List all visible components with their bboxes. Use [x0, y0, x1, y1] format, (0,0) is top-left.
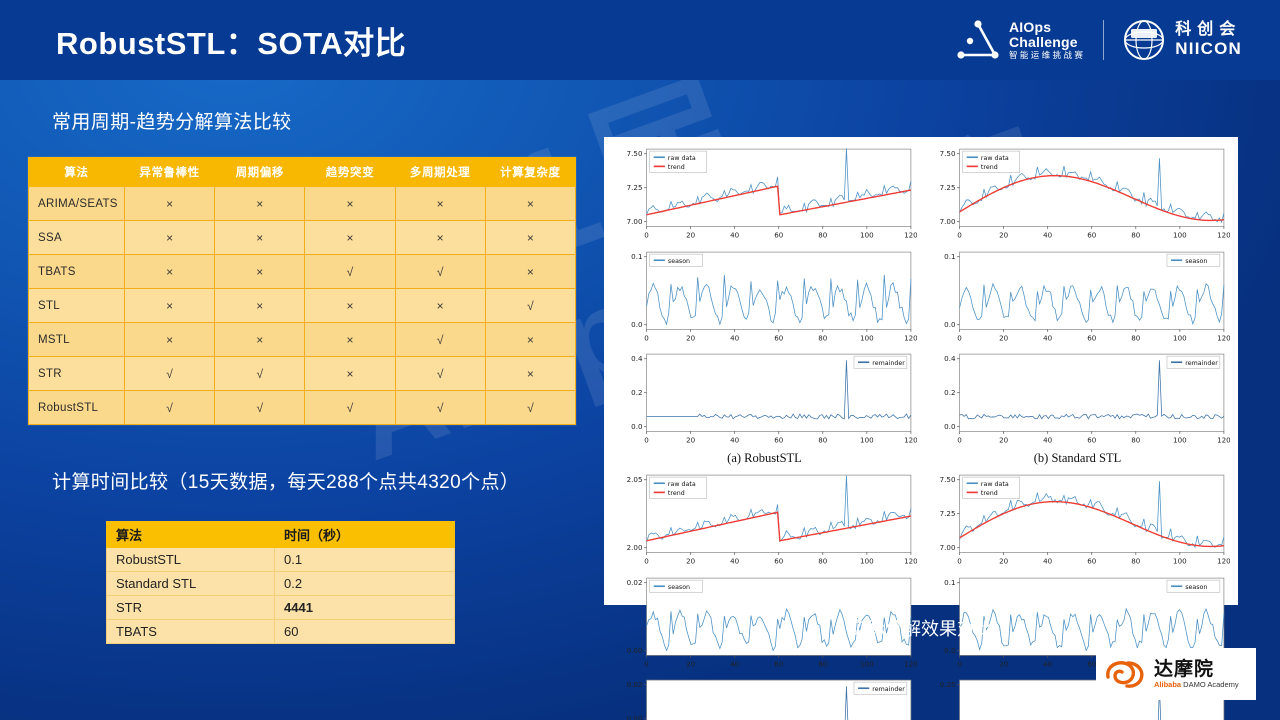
table-row: SSA××××× [29, 221, 576, 255]
compare-section-heading: 常用周期-趋势分解算法比较 [52, 107, 292, 134]
svg-text:7.00: 7.00 [940, 217, 956, 226]
svg-text:20: 20 [686, 231, 696, 240]
feature-cell-2: × [305, 357, 395, 391]
svg-text:120: 120 [1217, 436, 1230, 445]
svg-text:0.4: 0.4 [944, 354, 956, 363]
svg-text:0: 0 [957, 557, 962, 566]
niicon-logo-cn: 科创会 [1175, 22, 1242, 39]
aiops-logo-line3: 智能运维挑战赛 [1009, 51, 1085, 60]
svg-text:80: 80 [818, 231, 828, 240]
svg-text:40: 40 [1043, 436, 1053, 445]
feature-col-header-1: 异常鲁棒性 [125, 158, 215, 187]
cross-icon: × [166, 333, 173, 347]
svg-text:80: 80 [818, 557, 828, 566]
svg-text:7.50: 7.50 [627, 149, 643, 158]
aiops-logo-line1: AIOps [1009, 20, 1085, 34]
svg-text:trend: trend [668, 490, 685, 497]
cross-icon: × [166, 231, 173, 245]
feature-cell-4: √ [485, 289, 575, 323]
feature-cell-2: × [305, 323, 395, 357]
table-row: RobustSTL√√√√√ [29, 391, 576, 425]
feature-row-algo: MSTL [29, 323, 125, 357]
cross-icon: × [437, 197, 444, 211]
feature-comparison-table: 算法异常鲁棒性周期偏移趋势突变多周期处理计算复杂度 ARIMA/SEATS×××… [28, 157, 576, 425]
svg-text:0: 0 [957, 659, 962, 668]
timing-row-algo: RobustSTL [107, 548, 275, 572]
table-row: STL××××√ [29, 289, 576, 323]
svg-text:120: 120 [904, 333, 917, 342]
figure-subplot-stack-a: 0204060801001207.507.257.00raw datatrend… [608, 143, 921, 450]
figure-caption-a: (a) RobustSTL [608, 450, 921, 469]
feature-cell-0: × [125, 221, 215, 255]
svg-text:0.1: 0.1 [631, 252, 642, 261]
cross-icon: × [527, 367, 534, 381]
feature-table-body: ARIMA/SEATS×××××SSA×××××TBATS××√√×STL×××… [29, 187, 576, 425]
svg-text:120: 120 [1217, 557, 1230, 566]
damo-logo-en: Alibaba DAMO Academy [1154, 681, 1239, 689]
timing-row-algo: TBATS [107, 620, 275, 644]
check-icon: √ [437, 265, 444, 279]
subplot-b-season: 0204060801001200.10.0season [925, 246, 1230, 348]
svg-text:0.00: 0.00 [627, 646, 643, 655]
cross-icon: × [256, 231, 263, 245]
svg-text:100: 100 [1173, 557, 1187, 566]
svg-text:0.25: 0.25 [940, 680, 956, 689]
feature-cell-4: × [485, 357, 575, 391]
feature-cell-0: √ [125, 391, 215, 425]
check-icon: √ [166, 367, 173, 381]
svg-text:80: 80 [1131, 436, 1141, 445]
svg-text:60: 60 [774, 436, 784, 445]
svg-text:7.00: 7.00 [627, 217, 643, 226]
timing-row-algo: STR [107, 596, 275, 620]
svg-text:120: 120 [904, 436, 917, 445]
svg-text:100: 100 [860, 436, 874, 445]
svg-text:0: 0 [957, 436, 962, 445]
svg-text:60: 60 [1087, 231, 1097, 240]
feature-cell-0: √ [125, 357, 215, 391]
check-icon: √ [437, 367, 444, 381]
cross-icon: × [166, 197, 173, 211]
svg-text:80: 80 [1131, 231, 1141, 240]
feature-col-header-2: 周期偏移 [215, 158, 305, 187]
feature-comparison-table-wrapper: 算法异常鲁棒性周期偏移趋势突变多周期处理计算复杂度 ARIMA/SEATS×××… [28, 157, 576, 425]
svg-text:40: 40 [730, 231, 740, 240]
damo-logo-cn: 达摩院 [1154, 660, 1239, 679]
feature-cell-1: × [215, 289, 305, 323]
timing-section-heading: 计算时间比较（15天数据，每天288个点共4320个点） [52, 467, 519, 494]
cross-icon: × [256, 197, 263, 211]
cross-icon: × [527, 333, 534, 347]
feature-cell-4: × [485, 187, 575, 221]
cross-icon: × [527, 231, 534, 245]
subplot-a-season: 0204060801001200.10.0season [612, 246, 917, 348]
svg-text:0: 0 [957, 231, 962, 240]
subplot-b-trend: 0204060801001207.507.257.00raw datatrend [925, 143, 1230, 245]
feature-cell-1: √ [215, 357, 305, 391]
svg-text:season: season [668, 583, 690, 590]
cross-icon: × [256, 333, 263, 347]
cross-icon: × [437, 231, 444, 245]
cross-icon: × [346, 333, 353, 347]
timing-col-header-1: 时间（秒） [275, 522, 455, 548]
svg-text:0.4: 0.4 [631, 354, 643, 363]
page-title: RobustSTL：SOTA对比 [56, 18, 406, 63]
feature-cell-3: √ [395, 391, 485, 425]
figure-panel-b: 0204060801001207.507.257.00raw datatrend… [921, 143, 1234, 469]
svg-text:7.25: 7.25 [940, 509, 956, 518]
niicon-globe-icon [1122, 18, 1166, 62]
svg-text:0.0: 0.0 [944, 422, 956, 431]
svg-text:season: season [1185, 583, 1207, 590]
svg-text:40: 40 [730, 557, 740, 566]
feature-row-algo: ARIMA/SEATS [29, 187, 125, 221]
timing-row-value: 60 [275, 620, 455, 644]
feature-cell-0: × [125, 255, 215, 289]
svg-text:60: 60 [774, 231, 784, 240]
feature-cell-0: × [125, 323, 215, 357]
svg-text:20: 20 [999, 333, 1009, 342]
svg-text:7.50: 7.50 [940, 475, 956, 484]
table-row: Standard STL0.2 [107, 572, 455, 596]
svg-text:20: 20 [686, 333, 696, 342]
subplot-a-trend: 0204060801001207.507.257.00raw datatrend [612, 143, 917, 245]
feature-row-algo: RobustSTL [29, 391, 125, 425]
svg-text:raw data: raw data [668, 155, 696, 162]
timing-table-head: 算法时间（秒） [107, 522, 455, 548]
svg-text:100: 100 [860, 557, 874, 566]
damo-logo-en-brand: Alibaba [1154, 680, 1181, 689]
check-icon: √ [256, 401, 263, 415]
cross-icon: × [527, 197, 534, 211]
feature-cell-2: × [305, 187, 395, 221]
check-icon: √ [527, 299, 534, 313]
damo-academy-logo: 达摩院 Alibaba DAMO Academy [1096, 648, 1256, 700]
svg-text:season: season [668, 257, 690, 264]
feature-cell-1: × [215, 255, 305, 289]
svg-text:0.1: 0.1 [944, 252, 955, 261]
svg-text:7.25: 7.25 [627, 183, 643, 192]
cross-icon: × [166, 265, 173, 279]
timing-row-algo: Standard STL [107, 572, 275, 596]
svg-text:trend: trend [981, 490, 998, 497]
svg-text:0.02: 0.02 [627, 680, 643, 689]
svg-text:60: 60 [1087, 557, 1097, 566]
timing-row-value: 0.1 [275, 548, 455, 572]
svg-text:40: 40 [1043, 231, 1053, 240]
header-logos: AIOps Challenge 智能运维挑战赛 科创会 NIICON [956, 18, 1242, 62]
subplot-c-trend: 0204060801001202.052.00raw datatrend [612, 469, 917, 571]
feature-col-header-5: 计算复杂度 [485, 158, 575, 187]
feature-row-algo: SSA [29, 221, 125, 255]
svg-text:2.05: 2.05 [627, 475, 643, 484]
svg-text:0.0: 0.0 [944, 646, 956, 655]
table-row: TBATS××√√× [29, 255, 576, 289]
timing-row-value: 4441 [275, 596, 455, 620]
cross-icon: × [256, 265, 263, 279]
damo-swirl-icon [1102, 657, 1148, 691]
svg-text:0.0: 0.0 [944, 320, 956, 329]
slide-canvas: 2021届 AIOps挑战赛 RobustSTL：SOTA对比 AIOps Ch… [0, 0, 1280, 720]
svg-text:20: 20 [686, 436, 696, 445]
svg-text:20: 20 [999, 231, 1009, 240]
figure-subcaption: 实际分解效果对比 [604, 615, 1238, 641]
cross-icon: × [346, 299, 353, 313]
svg-text:7.25: 7.25 [940, 183, 956, 192]
timing-table-wrapper: 算法时间（秒） RobustSTL0.1Standard STL0.2STR44… [106, 521, 455, 644]
feature-cell-2: × [305, 221, 395, 255]
feature-cell-4: × [485, 255, 575, 289]
feature-cell-4: √ [485, 391, 575, 425]
svg-text:40: 40 [730, 436, 740, 445]
subplot-c-remainder: 0204060801001200.020.00−0.02remainder [612, 674, 917, 720]
feature-cell-3: √ [395, 357, 485, 391]
table-row: STR4441 [107, 596, 455, 620]
svg-text:trend: trend [981, 164, 998, 171]
check-icon: √ [166, 401, 173, 415]
timing-row-value: 0.2 [275, 572, 455, 596]
feature-cell-1: × [215, 221, 305, 255]
svg-text:20: 20 [686, 557, 696, 566]
subplot-b-remainder: 0204060801001200.40.20.0remainder [925, 348, 1230, 450]
table-row: STR√√×√× [29, 357, 576, 391]
svg-text:remainder: remainder [872, 360, 905, 367]
svg-text:7.50: 7.50 [940, 149, 956, 158]
figure-subplot-stack-c: 0204060801001202.052.00raw datatrend0204… [608, 469, 921, 720]
svg-text:0: 0 [644, 436, 649, 445]
cross-icon: × [166, 299, 173, 313]
feature-cell-2: √ [305, 255, 395, 289]
decomposition-figure-panel: 0204060801001207.507.257.00raw datatrend… [604, 137, 1238, 605]
svg-text:80: 80 [1131, 333, 1141, 342]
logo-divider [1103, 20, 1104, 60]
svg-text:60: 60 [774, 333, 784, 342]
check-icon: √ [437, 333, 444, 347]
cross-icon: × [437, 299, 444, 313]
svg-text:2.00: 2.00 [627, 543, 643, 552]
svg-text:0: 0 [644, 231, 649, 240]
svg-text:raw data: raw data [668, 481, 696, 488]
svg-text:raw data: raw data [981, 481, 1009, 488]
svg-text:raw data: raw data [981, 155, 1009, 162]
check-icon: √ [256, 367, 263, 381]
svg-text:0: 0 [644, 333, 649, 342]
check-icon: √ [527, 401, 534, 415]
feature-cell-0: × [125, 187, 215, 221]
feature-cell-2: × [305, 289, 395, 323]
subplot-a-remainder: 0204060801001200.40.20.0remainder [612, 348, 917, 450]
svg-text:60: 60 [1087, 436, 1097, 445]
table-row: TBATS60 [107, 620, 455, 644]
feature-cell-1: √ [215, 391, 305, 425]
svg-text:100: 100 [860, 659, 874, 668]
damo-logo-en-rest: DAMO Academy [1181, 680, 1239, 689]
svg-text:trend: trend [668, 164, 685, 171]
cross-icon: × [346, 367, 353, 381]
feature-col-header-0: 算法 [29, 158, 125, 187]
svg-text:0.2: 0.2 [631, 388, 642, 397]
svg-text:0.2: 0.2 [944, 388, 955, 397]
svg-text:20: 20 [999, 436, 1009, 445]
cross-icon: × [256, 299, 263, 313]
table-row: RobustSTL0.1 [107, 548, 455, 572]
svg-text:60: 60 [1087, 333, 1097, 342]
svg-text:0: 0 [644, 659, 649, 668]
svg-text:0: 0 [644, 557, 649, 566]
svg-text:0.0: 0.0 [631, 320, 643, 329]
svg-text:80: 80 [1131, 557, 1141, 566]
svg-text:remainder: remainder [1185, 360, 1218, 367]
feature-col-header-4: 多周期处理 [395, 158, 485, 187]
table-row: ARIMA/SEATS××××× [29, 187, 576, 221]
svg-text:40: 40 [1043, 659, 1053, 668]
check-icon: √ [437, 401, 444, 415]
svg-text:0.1: 0.1 [944, 578, 955, 587]
figure-subplot-stack-b: 0204060801001207.507.257.00raw datatrend… [921, 143, 1234, 450]
feature-cell-3: × [395, 289, 485, 323]
timing-comparison-table: 算法时间（秒） RobustSTL0.1Standard STL0.2STR44… [106, 521, 455, 644]
svg-text:40: 40 [730, 659, 740, 668]
table-row: MSTL×××√× [29, 323, 576, 357]
svg-text:120: 120 [904, 557, 917, 566]
svg-text:20: 20 [999, 557, 1009, 566]
feature-col-header-3: 趋势突变 [305, 158, 395, 187]
svg-text:40: 40 [730, 333, 740, 342]
svg-text:100: 100 [1173, 436, 1187, 445]
check-icon: √ [347, 265, 354, 279]
svg-text:80: 80 [818, 333, 828, 342]
feature-cell-4: × [485, 323, 575, 357]
subplot-d-trend: 0204060801001207.507.257.00raw datatrend [925, 469, 1230, 571]
svg-text:120: 120 [1217, 333, 1230, 342]
niicon-logo: 科创会 NIICON [1122, 18, 1242, 62]
svg-text:7.00: 7.00 [940, 543, 956, 552]
svg-text:120: 120 [1217, 231, 1230, 240]
svg-text:120: 120 [904, 231, 917, 240]
feature-row-algo: TBATS [29, 255, 125, 289]
figure-caption-b: (b) Standard STL [921, 450, 1234, 469]
feature-row-algo: STL [29, 289, 125, 323]
timing-col-header-0: 算法 [107, 522, 275, 548]
figure-panel-a: 0204060801001207.507.257.00raw datatrend… [608, 143, 921, 469]
svg-text:60: 60 [774, 557, 784, 566]
svg-text:season: season [1185, 257, 1207, 264]
feature-cell-4: × [485, 221, 575, 255]
timing-table-header-row: 算法时间（秒） [107, 522, 455, 548]
cross-icon: × [346, 197, 353, 211]
figure-grid: 0204060801001207.507.257.00raw datatrend… [608, 143, 1234, 603]
svg-text:0.02: 0.02 [627, 578, 643, 587]
feature-cell-3: × [395, 221, 485, 255]
cross-icon: × [527, 265, 534, 279]
svg-text:20: 20 [999, 659, 1009, 668]
svg-text:0.00: 0.00 [627, 714, 643, 720]
feature-cell-0: × [125, 289, 215, 323]
feature-table-head: 算法异常鲁棒性周期偏移趋势突变多周期处理计算复杂度 [29, 158, 576, 187]
svg-text:100: 100 [860, 333, 874, 342]
svg-text:0: 0 [957, 333, 962, 342]
aiops-logo-line2: Challenge [1009, 35, 1085, 49]
cross-icon: × [346, 231, 353, 245]
figure-panel-c: 0204060801001202.052.00raw datatrend0204… [608, 469, 921, 720]
svg-text:80: 80 [818, 436, 828, 445]
svg-text:20: 20 [686, 659, 696, 668]
svg-text:remainder: remainder [872, 686, 905, 693]
svg-text:40: 40 [1043, 333, 1053, 342]
slide-header: RobustSTL：SOTA对比 AIOps Challenge 智能运维挑战赛 [0, 0, 1280, 80]
svg-text:120: 120 [904, 659, 917, 668]
aiops-challenge-logo: AIOps Challenge 智能运维挑战赛 [956, 19, 1085, 61]
feature-cell-3: × [395, 187, 485, 221]
timing-table-body: RobustSTL0.1Standard STL0.2STR4441TBATS6… [107, 548, 455, 644]
svg-text:100: 100 [1173, 333, 1187, 342]
aiops-triangle-icon [956, 19, 1000, 61]
feature-table-header-row: 算法异常鲁棒性周期偏移趋势突变多周期处理计算复杂度 [29, 158, 576, 187]
svg-text:100: 100 [1173, 231, 1187, 240]
feature-cell-2: √ [305, 391, 395, 425]
check-icon: √ [347, 401, 354, 415]
feature-row-algo: STR [29, 357, 125, 391]
feature-cell-1: × [215, 323, 305, 357]
svg-text:60: 60 [774, 659, 784, 668]
svg-text:100: 100 [860, 231, 874, 240]
svg-text:80: 80 [818, 659, 828, 668]
svg-text:40: 40 [1043, 557, 1053, 566]
svg-text:0.0: 0.0 [631, 422, 643, 431]
feature-cell-3: √ [395, 255, 485, 289]
feature-cell-1: × [215, 187, 305, 221]
niicon-logo-en: NIICON [1175, 40, 1242, 58]
feature-cell-3: √ [395, 323, 485, 357]
